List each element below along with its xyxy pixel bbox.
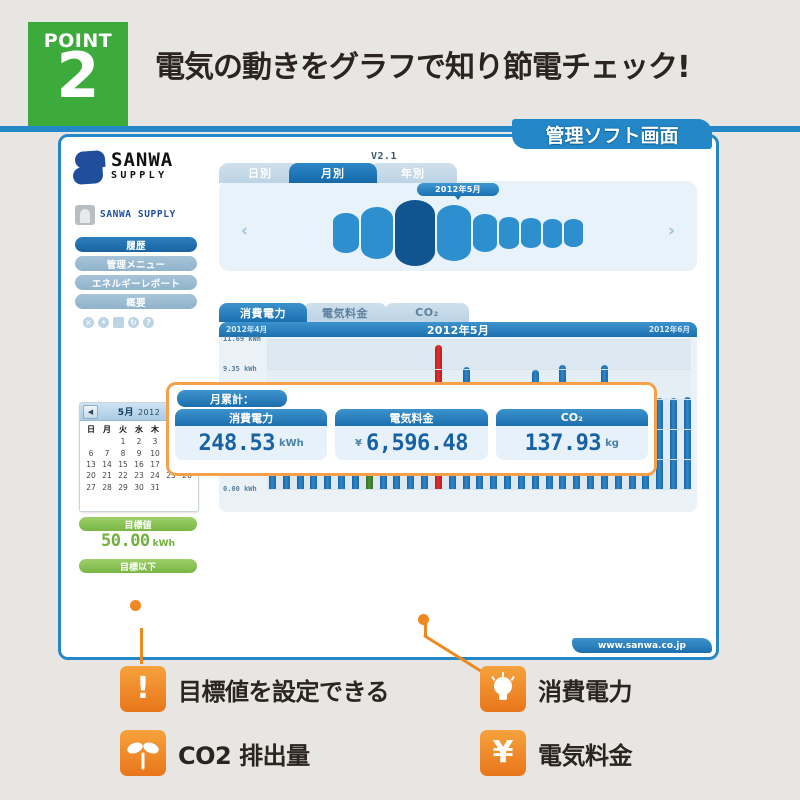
calendar-day-cell[interactable]: 10 [147,447,163,458]
stop-icon[interactable] [113,317,124,328]
calendar-day-cell[interactable]: 31 [147,482,163,493]
calendar-day-cell[interactable]: 7 [99,447,115,458]
yen-glyph: ¥ [480,730,526,776]
chart-gridline [267,339,691,340]
calendar-day-cell[interactable]: 13 [83,459,99,470]
target-unit: kWh [153,539,175,549]
chart-tabs: CO₂ 電気料金 消費電力 [219,303,489,322]
callout-target-setting: ! 目標値を設定できる [120,666,389,712]
summary-card-title: 消費電力 [175,409,327,426]
calendar-weekday: 火 [115,423,131,436]
logo-subword: SUPPLY [111,170,168,181]
carousel-items [219,199,697,267]
carousel-item[interactable] [564,219,583,247]
calendar-day-cell[interactable]: 30 [131,482,147,493]
summary-card-unit: kWh [279,438,304,449]
summary-card-prefix: ¥ [355,438,362,449]
calendar-title: 5月2012 [118,405,161,418]
calendar-day-cell[interactable]: 17 [147,459,163,470]
calendar-week-row: 2728293031 [83,482,195,493]
leader-dot-target [130,600,141,611]
chart-header: 2012年4月 2012年5月 2012年6月 [219,322,697,337]
calendar-month: 5月 [118,408,134,418]
sanwa-logo: SANWA SUPPLY [73,149,203,191]
carousel-item[interactable] [333,213,359,253]
user-name: SANWA SUPPLY [100,209,176,220]
sidebar-item-overview[interactable]: 概要 [75,294,197,309]
carousel-item[interactable] [499,217,519,249]
calendar-day-cell [163,482,179,493]
avatar [75,205,95,225]
point-badge-number: 2 [28,50,128,103]
summary-card-title: 電気料金 [335,409,487,426]
period-tabs: 日別 年別 月別 [219,163,459,183]
calendar-day-cell[interactable]: 6 [83,447,99,458]
calendar-day-cell [179,482,195,493]
callout-co2-emission: CO2 排出量 [120,730,310,776]
sidebar-item-admin-menu[interactable]: 管理メニュー [75,256,197,271]
chart-bar[interactable] [684,397,691,489]
calendar-day-cell[interactable]: 28 [99,482,115,493]
summary-card-value: 137.93 [525,431,601,456]
tab-monthly[interactable]: 月別 [289,163,377,183]
close-icon[interactable]: × [83,317,94,328]
leader-line-target [140,628,143,664]
chart-gridline [267,489,691,490]
point-badge: POINT 2 [28,22,128,126]
calendar-day-cell[interactable]: 27 [83,482,99,493]
callout-label: CO2 排出量 [178,736,310,771]
tab-yearly[interactable]: 年別 [369,163,457,183]
target-value-row: 50.00 kWh [79,531,197,559]
summary-card-cost: 電気料金 ¥ 6,596.48 [335,409,487,460]
calendar-day-cell[interactable]: 8 [115,447,131,458]
month-carousel: 2012年5月 ‹ › [219,181,697,271]
refresh-icon[interactable]: ↻ [128,317,139,328]
calendar-weekday: 日 [83,423,99,436]
calendar-day-cell[interactable]: 24 [147,470,163,481]
carousel-item[interactable] [473,214,497,252]
chart-bar[interactable] [656,398,663,489]
calendar-weekday: 木 [147,423,163,436]
ribbon-label: 管理ソフト画面 [512,119,712,149]
yen-icon: ¥ [480,730,526,776]
calendar-day-cell[interactable]: 1 [115,436,131,447]
software-screen-ribbon: 管理ソフト画面 [512,119,712,149]
calendar-prev-button[interactable]: ◀ [83,405,98,419]
calendar-day-cell[interactable]: 9 [131,447,147,458]
calendar-year: 2012 [138,408,160,417]
chart-gridline [267,369,691,370]
y-axis-tick-label: 0.00 kWh [223,485,267,493]
tab-power-consumption[interactable]: 消費電力 [219,303,307,322]
poster-root: POINT 2 電気の動きをグラフで知り節電チェック! 管理ソフト画面 SANW… [0,0,800,800]
lightbulb-icon [480,666,526,712]
monthly-summary-panel: 月累計： 消費電力 248.53 kWh 電気料金 ¥ 6,596.48 CO₂ [166,382,657,476]
carousel-selected-label: 2012年5月 [417,183,499,196]
calendar-day-cell[interactable]: 21 [99,470,115,481]
logo-wordmark: SANWA [111,149,173,171]
page-title: 電気の動きをグラフで知り節電チェック! [155,42,755,86]
callout-label: 消費電力 [538,672,632,707]
summary-card-body: 248.53 kWh [175,426,327,460]
calendar-weekday: 月 [99,423,115,436]
sprout-svg [120,730,166,776]
summary-cards: 消費電力 248.53 kWh 電気料金 ¥ 6,596.48 CO₂ 137.… [175,409,648,460]
summary-card-body: ¥ 6,596.48 [335,426,487,460]
target-value: 50.00 [101,531,150,551]
sprout-icon [120,730,166,776]
callout-power-consumption: 消費電力 [480,666,632,712]
version-label: V2.1 [371,151,397,162]
carousel-item[interactable] [543,219,562,248]
y-axis-tick-label: 9.35 kWh [223,365,267,373]
calendar-day-cell [83,436,99,447]
calendar-day-cell[interactable]: 3 [147,436,163,447]
lightbulb-svg [480,666,526,712]
summary-card-body: 137.93 kg [496,426,648,460]
carousel-item-selected[interactable] [395,200,435,266]
target-panel: 目標値 50.00 kWh 目標以下 [79,517,197,573]
help-icon[interactable]: ? [143,317,154,328]
summary-card-title: CO₂ [496,409,648,426]
chart-prev-month[interactable]: 2012年4月 [226,324,267,335]
callout-label: 目標値を設定できる [178,672,389,707]
sidebar-item-energy-report[interactable]: エネルギーレポート [75,275,197,290]
sanwa-logo-mark [73,151,107,189]
target-status-badge: 目標以下 [79,559,197,573]
calendar-day-cell[interactable]: 2 [131,436,147,447]
callout-label: 電気料金 [538,736,632,771]
calendar-weekday: 水 [131,423,147,436]
chart-current-month: 2012年5月 [427,322,489,338]
chart-next-month[interactable]: 2012年6月 [649,324,690,335]
tool-icon-row: × • ↻ ? [83,317,193,328]
gear-icon[interactable]: • [98,317,109,328]
summary-tag: 月累計： [177,390,287,407]
calendar-day-cell[interactable]: 29 [115,482,131,493]
sidebar-nav: 履歴 管理メニュー エネルギーレポート 概要 [75,237,197,313]
exclamation-glyph: ! [120,666,166,712]
leader-dot-power [418,614,429,625]
y-axis-tick-label: 11.69 kWh [223,335,267,343]
target-label: 目標値 [79,517,197,531]
summary-card-value: 6,596.48 [366,431,468,456]
summary-card-power: 消費電力 248.53 kWh [175,409,327,460]
calendar-day-cell[interactable]: 16 [131,459,147,470]
summary-card-unit: kg [605,438,619,449]
tab-electricity-cost[interactable]: 電気料金 [303,303,387,322]
exclamation-icon: ! [120,666,166,712]
summary-card-co2: CO₂ 137.93 kg [496,409,648,460]
calendar-day-cell[interactable]: 20 [83,470,99,481]
calendar-day-cell[interactable]: 14 [99,459,115,470]
sidebar-item-history[interactable]: 履歴 [75,237,197,252]
calendar-day-cell [99,436,115,447]
tab-co2[interactable]: CO₂ [385,303,469,322]
carousel-item[interactable] [521,218,541,248]
calendar-day-cell[interactable]: 23 [131,470,147,481]
calendar-day-cell[interactable]: 15 [115,459,131,470]
chart-bar[interactable] [670,398,677,489]
carousel-item[interactable] [437,205,471,261]
callout-electricity-cost: ¥ 電気料金 [480,730,632,776]
website-url: www.sanwa.co.jp [572,638,712,653]
summary-card-value: 248.53 [199,431,275,456]
carousel-item[interactable] [361,207,393,259]
calendar-day-cell[interactable]: 22 [115,470,131,481]
user-row: SANWA SUPPLY [75,205,205,227]
